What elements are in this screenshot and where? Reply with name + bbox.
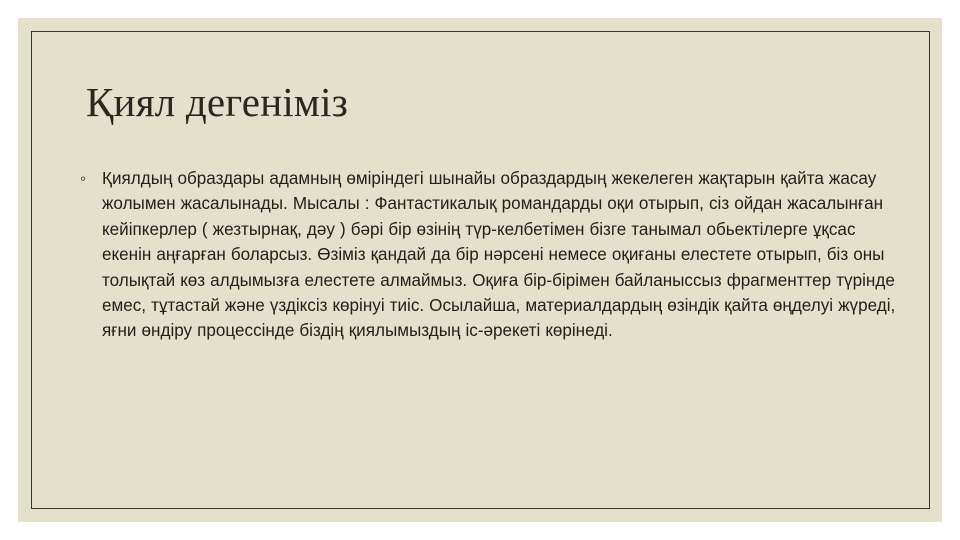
slide-body-list: ◦ Қиялдың образдары адамның өміріндегі ш… [80, 166, 898, 352]
list-item-text: Қиялдың образдары адамның өміріндегі шын… [102, 166, 898, 344]
list-item: ◦ Қиялдың образдары адамның өміріндегі ш… [80, 166, 898, 344]
page-title: Қиял дегеніміз [86, 80, 906, 126]
slide-canvas: Қиял дегеніміз ◦ Қиялдың образдары адамн… [0, 0, 960, 540]
bullet-circle-icon: ◦ [80, 166, 86, 191]
slide-surface: Қиял дегеніміз ◦ Қиялдың образдары адамн… [18, 18, 942, 522]
